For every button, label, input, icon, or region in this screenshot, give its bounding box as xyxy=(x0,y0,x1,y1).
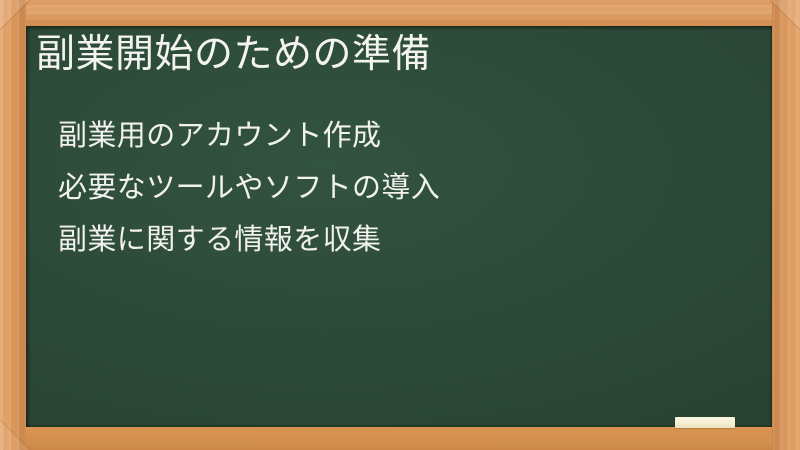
bullet-list: 副業用のアカウント作成 必要なツールやソフトの導入 副業に関する情報を収集 xyxy=(58,109,440,265)
frame-right-rail xyxy=(772,0,800,450)
slide-canvas: 副業開始のための準備 副業用のアカウント作成 必要なツールやソフトの導入 副業に… xyxy=(0,0,800,450)
list-item: 必要なツールやソフトの導入 xyxy=(58,161,440,213)
slide-title: 副業開始のための準備 xyxy=(36,32,431,79)
chalkboard: 副業開始のための準備 副業用のアカウント作成 必要なツールやソフトの導入 副業に… xyxy=(26,26,772,427)
list-item: 副業用のアカウント作成 xyxy=(58,109,440,161)
chalkboard-content: 副業開始のための準備 副業用のアカウント作成 必要なツールやソフトの導入 副業に… xyxy=(26,26,772,427)
frame-bottom-ledge xyxy=(0,427,800,450)
chalk-piece xyxy=(675,417,735,428)
list-item: 副業に関する情報を収集 xyxy=(58,213,440,265)
frame-top-rail xyxy=(0,0,800,26)
frame-left-rail xyxy=(0,0,26,450)
